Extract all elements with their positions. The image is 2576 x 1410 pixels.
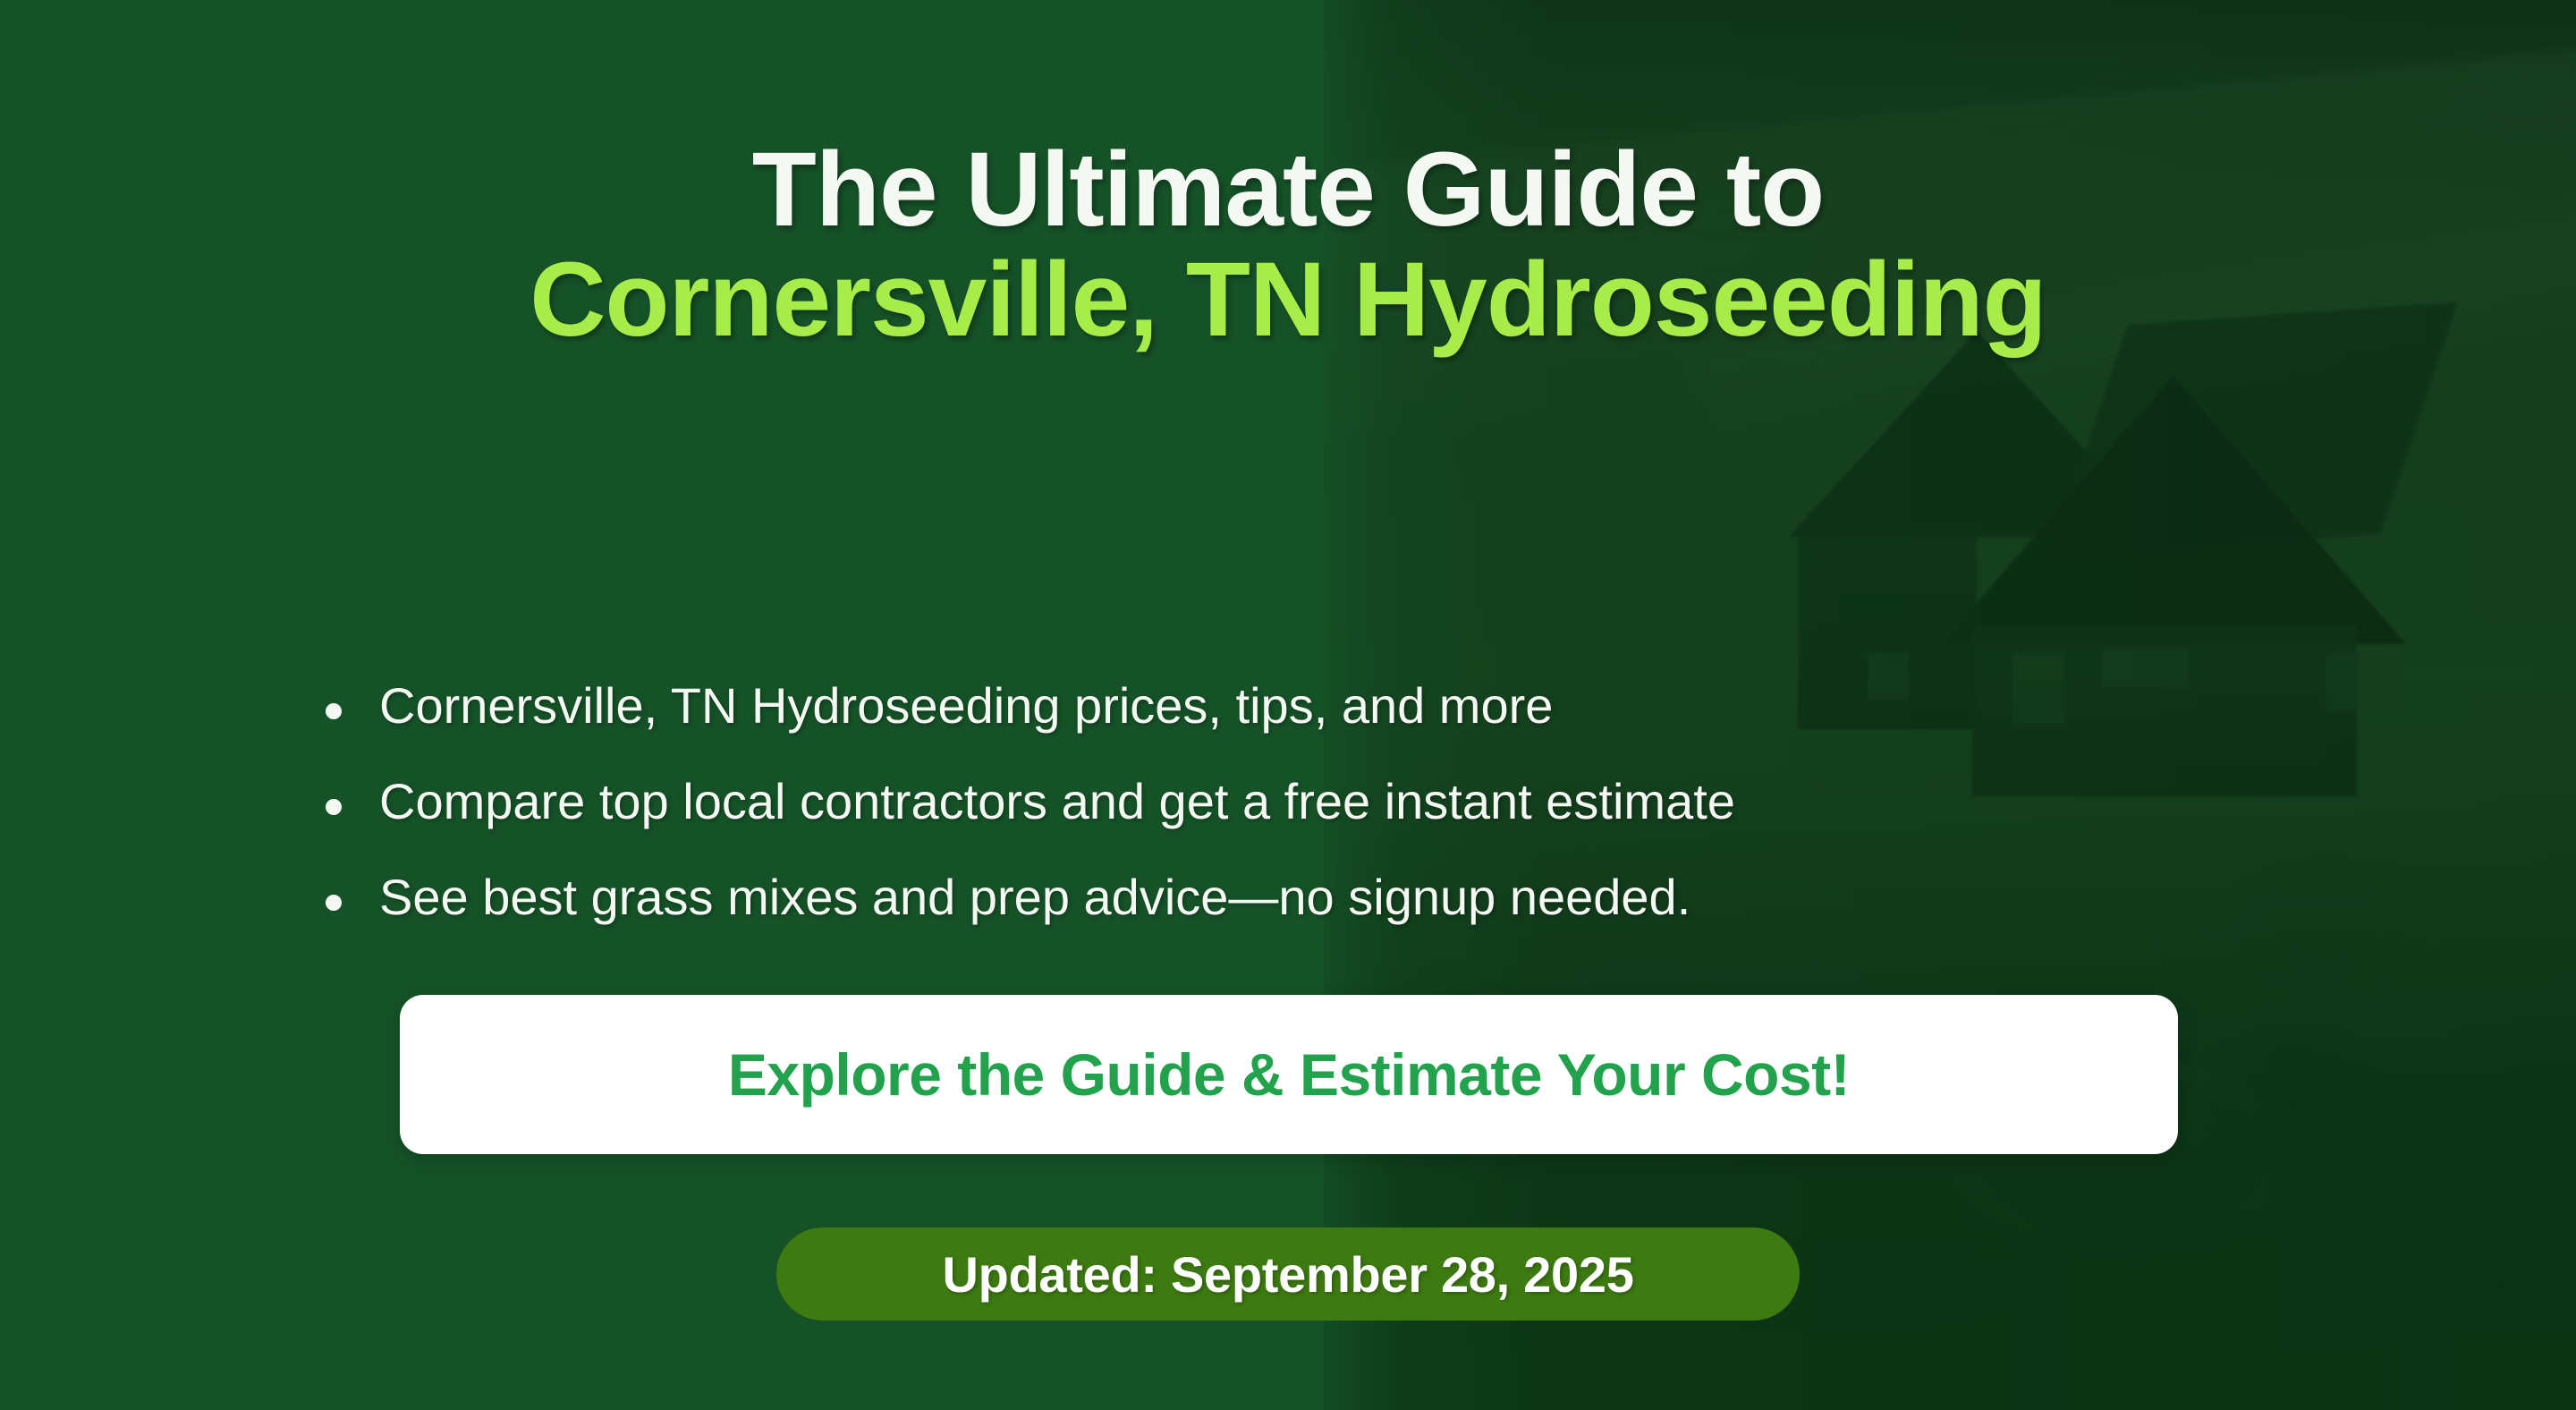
list-item: Cornersville, TN Hydroseeding prices, ti…	[315, 680, 2265, 732]
headline-line-1: The Ultimate Guide to	[752, 131, 1824, 249]
updated-date-badge: Updated: September 28, 2025	[776, 1227, 1800, 1321]
hero-banner: The Ultimate Guide to Cornersville, TN H…	[0, 0, 2576, 1410]
benefits-list: Cornersville, TN Hydroseeding prices, ti…	[315, 680, 2265, 968]
headline-accent: Cornersville, TN Hydroseeding	[161, 245, 2415, 355]
page-title: The Ultimate Guide to Cornersville, TN H…	[0, 135, 2576, 354]
hero-content: The Ultimate Guide to Cornersville, TN H…	[0, 0, 2576, 1410]
list-item: See best grass mixes and prep advice—no …	[315, 871, 2265, 923]
explore-guide-cta-button[interactable]: Explore the Guide & Estimate Your Cost!	[400, 995, 2178, 1154]
list-item: Compare top local contractors and get a …	[315, 776, 2265, 828]
